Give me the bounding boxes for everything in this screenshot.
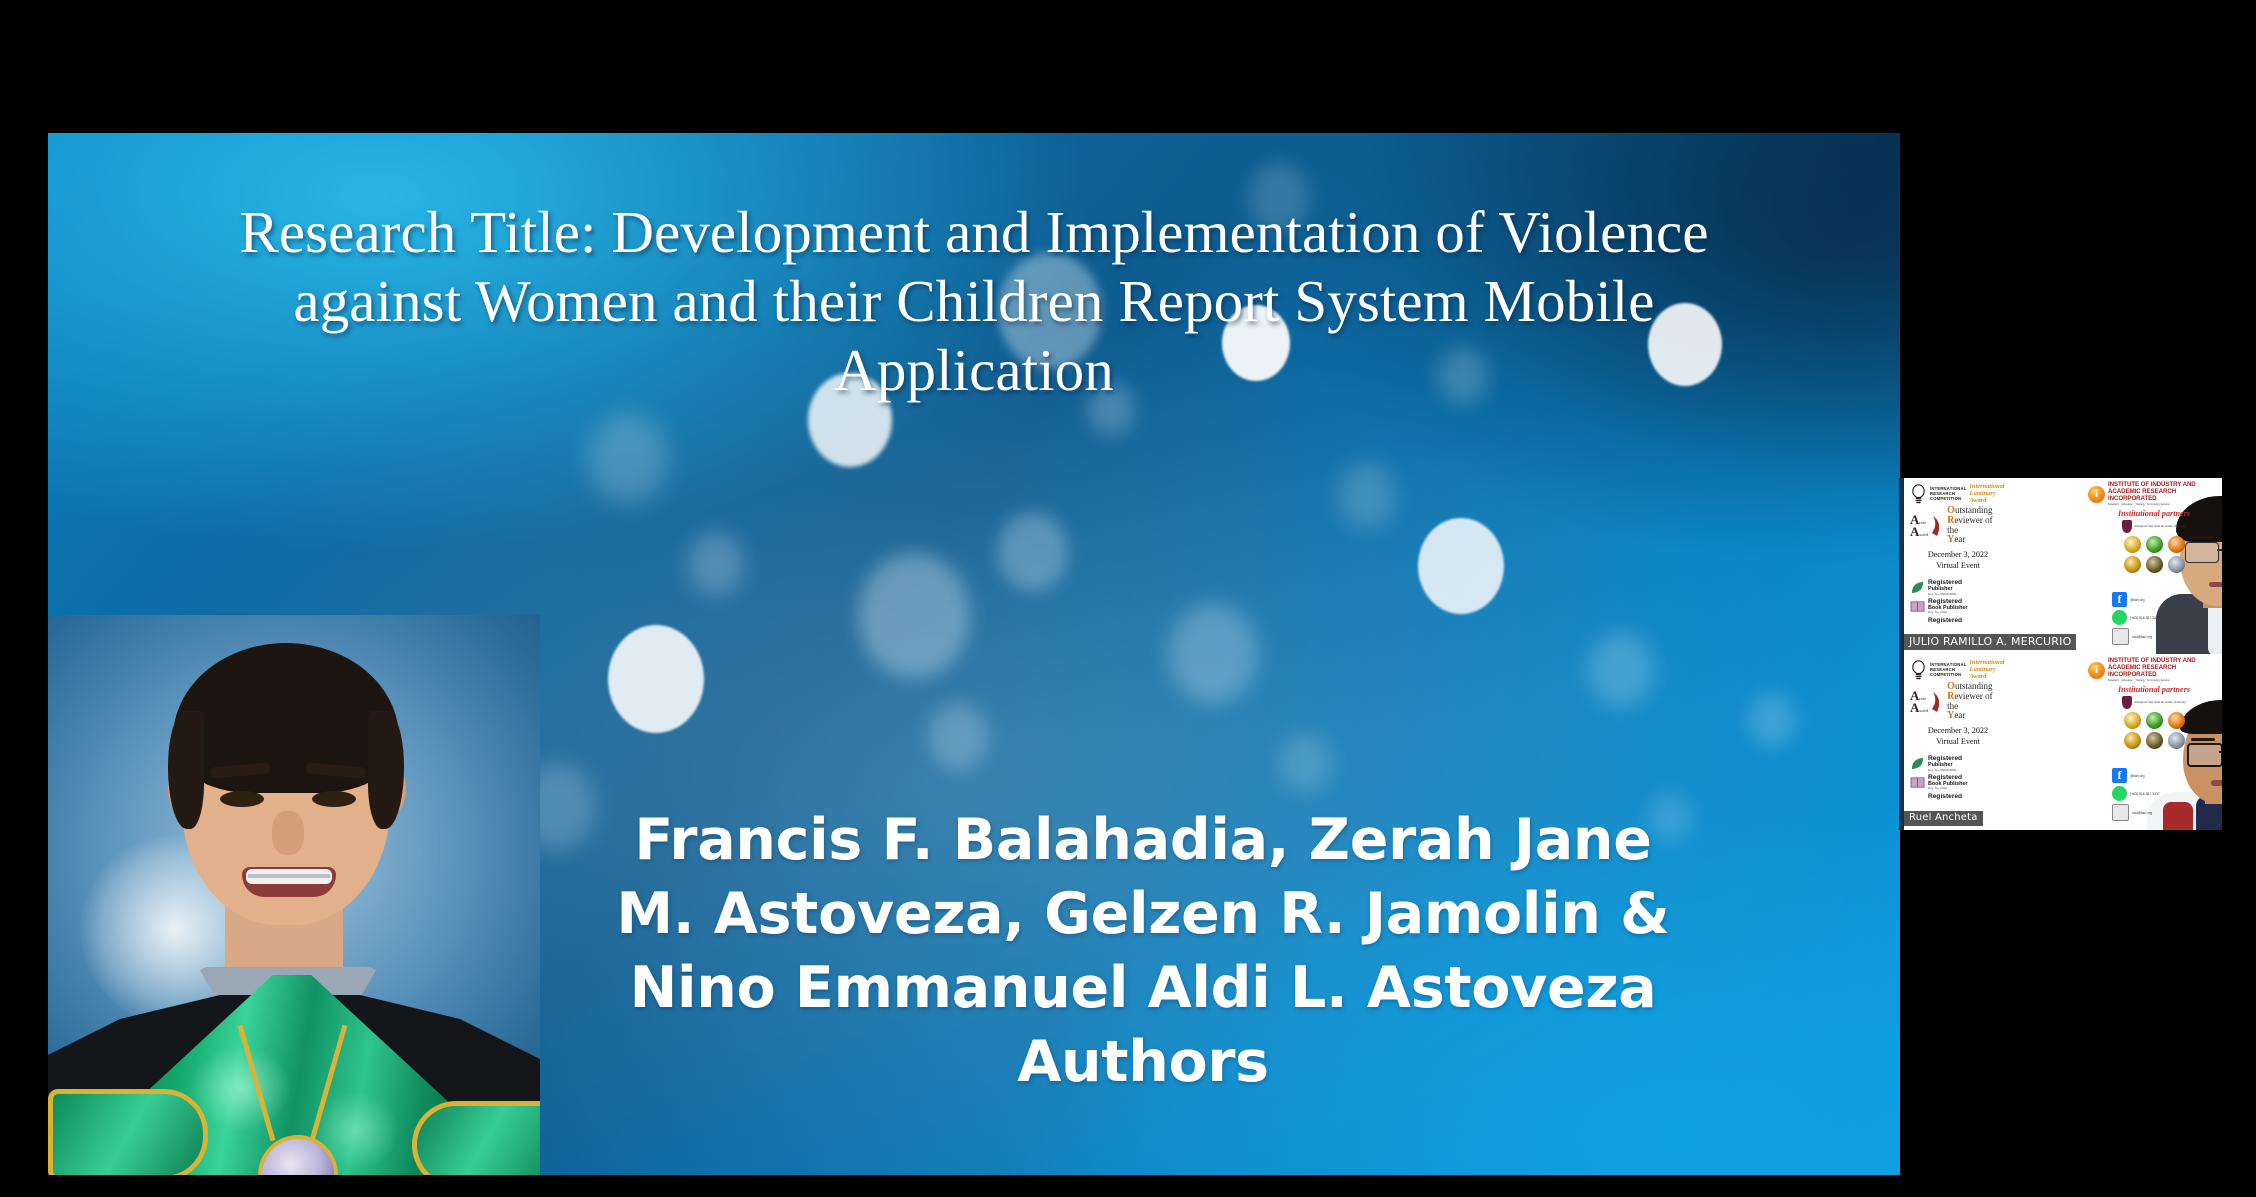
partner-seal-row-1: [2088, 712, 2220, 729]
event-date: December 3, 2022: [1912, 726, 2004, 737]
bokeh-circle-9: [1338, 463, 1396, 528]
partner-seal-icon-4: [2124, 556, 2141, 573]
institute-header: i INSTITUTE OF INDUSTRY AND ACADEMIC RES…: [2088, 482, 2220, 506]
email-icon: [2112, 628, 2129, 645]
partner-seal-icon-1: [2124, 712, 2141, 729]
participant-1-registrations: Registered Publisher Reg. No. 0000000000…: [1910, 580, 2002, 624]
participant-2-institute-branding: i INSTITUTE OF INDUSTRY AND ACADEMIC RES…: [2088, 658, 2220, 749]
institute-header: i INSTITUTE OF INDUSTRY AND ACADEMIC RES…: [2088, 658, 2220, 682]
institute-name: INSTITUTE OF INDUSTRY AND ACADEMIC RESEA…: [2108, 658, 2220, 678]
institute-logo-icon: i: [2088, 486, 2105, 503]
bokeh-circle-11: [1418, 518, 1504, 614]
participant-1-institute-branding: i INSTITUTE OF INDUSTRY AND ACADEMIC RES…: [2088, 482, 2220, 573]
registration-item-2: Registered Book Publisher Reg. No. 2019: [1910, 775, 2002, 791]
award-title-1: International Luminary Award: [1969, 659, 2004, 680]
university-shield-icon: [2122, 696, 2132, 709]
partners-heading: Institutional partners: [2088, 685, 2220, 694]
registration-note-2: Reg. No. 2019: [1928, 611, 1968, 614]
institute-tagline: Research · Education · Training · Commun…: [2108, 679, 2220, 682]
presentation-slide: Research Title: Development and Implemen…: [48, 133, 1900, 1175]
portrait-nose: [272, 811, 304, 855]
bokeh-circle-10: [998, 513, 1068, 591]
email-handle: info@iiari.org: [2132, 635, 2152, 639]
leaf-badge-icon: [1910, 756, 1925, 771]
university-partner-name: Colegio de San Juan de Letran University: [2134, 525, 2186, 528]
event-type: Virtual Event: [1912, 561, 2004, 572]
social-item-email: info@iiari.org: [2112, 628, 2216, 645]
institute-tagline: Research · Education · Training · Commun…: [2108, 503, 2220, 506]
university-partner: Colegio de San Juan de Letran University: [2088, 520, 2220, 533]
participant-1-event-info: December 3, 2022 Virtual Event: [1912, 550, 2004, 571]
bokeh-circle-8: [588, 413, 668, 503]
partner-seal-icon-2: [2146, 712, 2163, 729]
participant-1-mouth: [2209, 582, 2222, 587]
portrait-mouth: [242, 867, 336, 897]
authors-text: Francis F. Balahadia, Zerah Jane M. Asto…: [608, 803, 1678, 1099]
bokeh-circle-12: [688, 533, 744, 596]
bokeh-circle-14: [1168, 603, 1258, 704]
ribbon-swoosh-icon: [1931, 691, 1944, 713]
video-tile-participant-1[interactable]: INTERNATIONAL RESEARCH COMPETITION Inter…: [1899, 478, 2222, 654]
partner-seal-icon-5: [2146, 732, 2163, 749]
portrait-cuff-right: [412, 1101, 540, 1175]
portrait-eye-left: [220, 791, 264, 807]
phone-handle: (+63) 916 387 3337: [2130, 616, 2160, 620]
registration-note-1: Reg. No. 0000000000: [1928, 769, 1962, 772]
bokeh-circle-20: [1278, 733, 1332, 793]
partner-seal-icon-5: [2146, 556, 2163, 573]
video-participants-panel[interactable]: INTERNATIONAL RESEARCH COMPETITION Inter…: [1899, 478, 2217, 830]
social-item-facebook: f @iiari.org: [2112, 768, 2216, 783]
arete-award-mark: AreteAward: [1910, 690, 1928, 714]
partner-seal-icon-3: [2168, 712, 2185, 729]
award-item-1: INTERNATIONAL RESEARCH COMPETITION Inter…: [1910, 659, 1994, 680]
registration-title-3: Registered: [1910, 794, 2002, 801]
university-partner: Colegio de San Juan de Letran University: [2088, 696, 2220, 709]
video-tile-participant-2[interactable]: INTERNATIONAL RESEARCH COMPETITION Inter…: [1899, 654, 2222, 830]
presenter-portrait-photo: [48, 615, 540, 1175]
portrait-cuff-left: [48, 1089, 208, 1175]
lightbulb-icon: [1910, 660, 1927, 680]
award-item-2: AreteAward OutstandingReviewer of theYea…: [1910, 682, 1994, 721]
phone-handle: (+63) 916 387 3337: [2130, 792, 2160, 796]
partner-seal-icon-3: [2168, 536, 2185, 553]
award-title-1: International Luminary Award: [1969, 483, 2004, 504]
book-badge-icon: [1910, 775, 1925, 790]
bokeh-circle-19: [928, 703, 988, 770]
partner-seal-icon-6: [2168, 556, 2185, 573]
screen-root: Research Title: Development and Implemen…: [0, 0, 2256, 1197]
facebook-icon: f: [2112, 592, 2127, 607]
book-badge-icon: [1910, 599, 1925, 614]
social-item-phone: (+63) 916 387 3337: [2112, 786, 2216, 801]
award-item-1: INTERNATIONAL RESEARCH COMPETITION Inter…: [1910, 483, 1994, 504]
partner-seal-icon-2: [2146, 536, 2163, 553]
ribbon-swoosh-icon: [1931, 515, 1944, 537]
participant-1-awards-column: INTERNATIONAL RESEARCH COMPETITION Inter…: [1910, 483, 1994, 547]
bokeh-circle-13: [858, 553, 970, 678]
award-label-1: INTERNATIONAL RESEARCH COMPETITION: [1930, 662, 1966, 678]
participant-2-registrations: Registered Publisher Reg. No. 0000000000…: [1910, 756, 2002, 800]
bokeh-circle-16: [1588, 633, 1654, 707]
leaf-badge-icon: [1910, 580, 1925, 595]
partner-seal-row-2: [2088, 556, 2220, 573]
bokeh-circle-15: [608, 625, 704, 733]
participant-2-name-label: Ruel Ancheta: [1904, 811, 1983, 826]
partner-seal-icon-1: [2124, 536, 2141, 553]
award-item-2: AreteAward OutstandingReviewer of theYea…: [1910, 506, 1994, 545]
bokeh-circle-18: [1748, 693, 1796, 747]
arete-award-mark: AreteAward: [1910, 514, 1928, 538]
partner-seal-row-1: [2088, 536, 2220, 553]
slide-title-block: Research Title: Development and Implemen…: [48, 198, 1900, 405]
partner-seal-icon-4: [2124, 732, 2141, 749]
registration-item-1: Registered Publisher Reg. No. 0000000000: [1910, 756, 2002, 772]
email-icon: [2112, 804, 2129, 821]
participant-1-social-links: f @iiari.org (+63) 916 387 3337 info@iia…: [2112, 592, 2216, 648]
email-handle: info@iiari.org: [2132, 811, 2152, 815]
phone-icon: [2112, 786, 2127, 801]
participant-2-eyeglass-bridge: [2219, 751, 2222, 753]
lightbulb-icon: [1910, 484, 1927, 504]
registration-title-3: Registered: [1910, 618, 2002, 625]
registration-note-1: Reg. No. 0000000000: [1928, 593, 1962, 596]
participant-2-event-info: December 3, 2022 Virtual Event: [1912, 726, 2004, 747]
partner-seal-row-2: [2088, 732, 2220, 749]
social-item-phone: (+63) 916 387 3337: [2112, 610, 2216, 625]
outstanding-reviewer-mark: OutstandingReviewer of theYear: [1947, 506, 1994, 545]
event-type: Virtual Event: [1912, 737, 2004, 748]
participant-1-name-label: JULIO RAMILLO A. MERCURIO: [1904, 634, 2076, 650]
facebook-handle: @iiari.org: [2130, 774, 2145, 778]
facebook-icon: f: [2112, 768, 2127, 783]
award-label-1: INTERNATIONAL RESEARCH COMPETITION: [1930, 486, 1966, 502]
social-item-facebook: f @iiari.org: [2112, 592, 2216, 607]
event-date: December 3, 2022: [1912, 550, 2004, 561]
slide-authors-block: Francis F. Balahadia, Zerah Jane M. Asto…: [608, 803, 1678, 1099]
registration-item-2: Registered Book Publisher Reg. No. 2019: [1910, 599, 2002, 615]
page-title: Research Title: Development and Implemen…: [224, 198, 1724, 405]
partners-heading: Institutional partners: [2088, 509, 2220, 518]
social-item-email: info@iiari.org: [2112, 804, 2216, 821]
partner-seal-icon-6: [2168, 732, 2185, 749]
institute-logo-icon: i: [2088, 662, 2105, 679]
university-partner-name: Colegio de San Juan de Letran University: [2134, 701, 2186, 704]
portrait-eye-right: [312, 791, 356, 807]
participant-2-awards-column: INTERNATIONAL RESEARCH COMPETITION Inter…: [1910, 659, 1994, 723]
outstanding-reviewer-mark: OutstandingReviewer of theYear: [1947, 682, 1994, 721]
portrait-braces: [248, 874, 330, 878]
university-shield-icon: [2122, 520, 2132, 533]
facebook-handle: @iiari.org: [2130, 598, 2145, 602]
portrait-hair-side-left: [168, 711, 204, 829]
registration-note-2: Reg. No. 2019: [1928, 787, 1968, 790]
participant-2-social-links: f @iiari.org (+63) 916 387 3337 info@iia…: [2112, 768, 2216, 824]
phone-icon: [2112, 610, 2127, 625]
registration-item-1: Registered Publisher Reg. No. 0000000000: [1910, 580, 2002, 596]
institute-name: INSTITUTE OF INDUSTRY AND ACADEMIC RESEA…: [2108, 482, 2220, 502]
